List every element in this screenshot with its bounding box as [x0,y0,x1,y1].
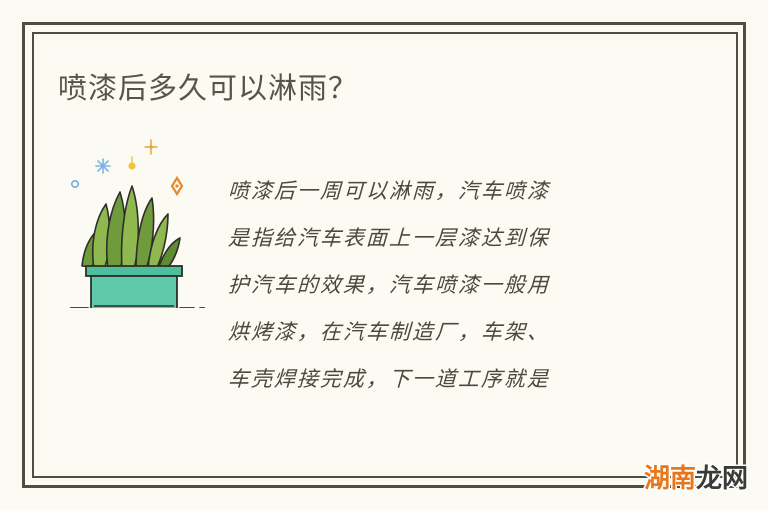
body-line: 喷漆后一周可以淋雨，汽车喷漆 [227,168,649,215]
body-line: 烘烤漆，在汽车制造厂，车架、 [227,309,649,356]
body-line: 护汽车的效果，汽车喷漆一般用 [227,262,649,309]
site-watermark: 湖南龙网 [644,462,748,496]
star-sparkle-orange-icon [145,140,157,154]
circle-sparkle-blue-icon [72,181,78,187]
page-title: 喷漆后多久可以淋雨？ [58,68,358,108]
article-body: 喷漆后一周可以淋雨，汽车喷漆 是指给汽车表面上一层漆达到保 护汽车的效果，汽车喷… [228,168,648,403]
plant-pot [86,266,182,308]
plant-leaves [82,186,180,269]
watermark-primary: 湖南 [644,466,696,492]
diamond-sparkle-orange-icon [172,178,182,194]
body-line: 是指给汽车表面上一层漆达到保 [227,215,649,262]
snowflake-sparkle-icon [96,159,110,173]
article-page: 喷漆后多久可以淋雨？ [0,0,768,510]
watermark-secondary: 龙网 [696,466,748,492]
dot-sparkle-yellow-icon [128,157,135,170]
potted-plant-illustration [70,138,205,308]
body-line: 车壳焊接完成，下一道工序就是 [227,356,649,403]
